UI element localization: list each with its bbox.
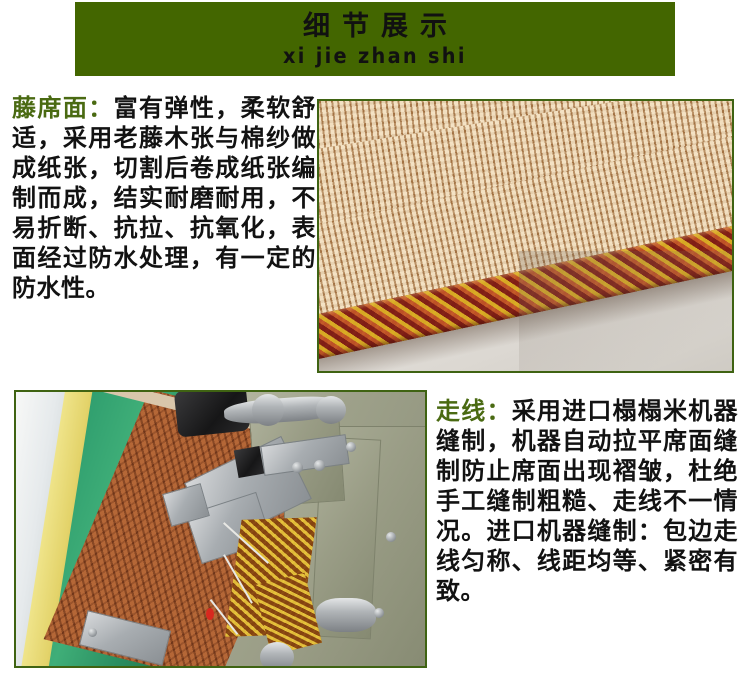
rattan-surface-description: 藤席面：富有弹性，柔软舒适，采用老藤木张与棉纱做成纸张，切割后卷成纸张编制而成，… [12,93,316,303]
machine-screw [346,442,356,452]
page-title-pinyin: xi jie zhan shi [283,44,467,69]
rattan-surface-label: 藤席面： [12,93,114,122]
machine-indicator-dot [206,608,214,620]
machine-screw [88,628,97,637]
machine-screw [314,460,325,471]
machine-screw [374,608,384,618]
floor-shadow [519,251,732,371]
machine-screw [386,532,396,542]
stitching-body: 采用进口榻榻米机器缝制，机器自动拉平席面缝制防止席面出现褶皱，杜绝手工缝制粗糙、… [436,396,738,605]
stitching-description: 走线：采用进口榻榻米机器缝制，机器自动拉平席面缝制防止席面出现褶皱，杜绝手工缝制… [436,396,738,606]
machine-roller-lower [260,642,294,666]
stacked-rattan-mats-photo [317,99,734,373]
stitching-label: 走线： [436,396,512,425]
rattan-surface-body: 富有弹性，柔软舒适，采用老藤木张与棉纱做成纸张，切割后卷成纸张编制而成，结实耐磨… [12,93,316,302]
machine-spindle-collar [252,394,284,426]
machine-spindle-collar [316,396,346,424]
machine-roller-right [316,598,376,632]
machine-screw [292,462,303,473]
sewing-machine-image [16,392,425,666]
header-banner: 细节展示 xi jie zhan shi [75,2,675,76]
stacked-rattan-mats-image [319,101,732,371]
page-title: 细节展示 [291,13,459,41]
machine-needle-cluster [234,446,264,478]
sewing-machine-photo [14,390,427,668]
